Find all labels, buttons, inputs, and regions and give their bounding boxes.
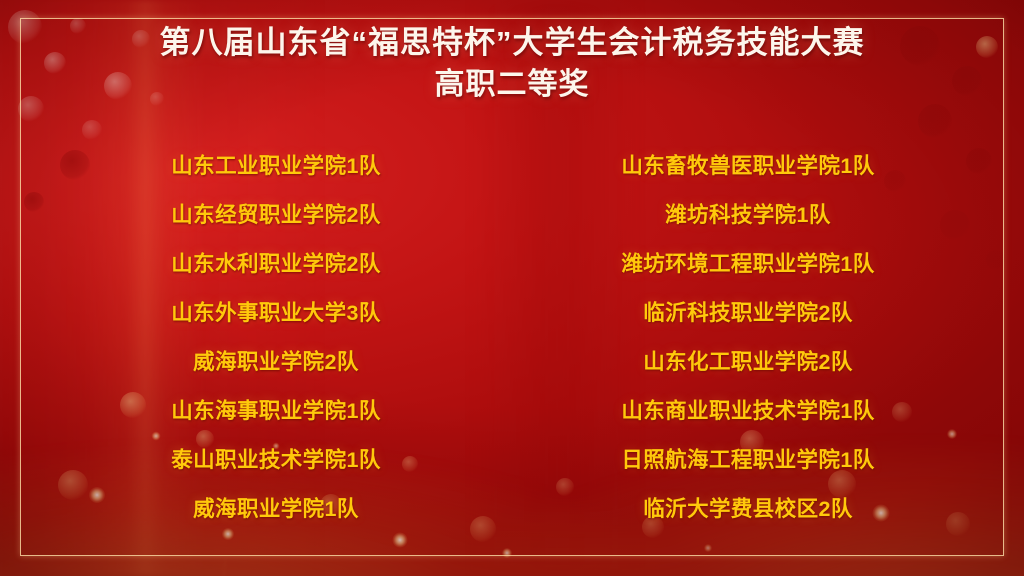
award-row: 山东商业职业技术学院1队 (512, 387, 984, 436)
award-row: 山东外事职业大学3队 (40, 289, 512, 338)
title-line-2: 高职二等奖 (0, 64, 1024, 106)
award-row: 临沂大学费县校区2队 (512, 485, 984, 534)
award-row: 威海职业学院1队 (40, 485, 512, 534)
award-slide: 第八届山东省“福思特杯”大学生会计税务技能大赛 高职二等奖 山东工业职业学院1队… (0, 0, 1024, 576)
award-row: 泰山职业技术学院1队 (40, 436, 512, 485)
award-row: 山东化工职业学院2队 (512, 338, 984, 387)
slide-content: 第八届山东省“福思特杯”大学生会计税务技能大赛 高职二等奖 山东工业职业学院1队… (0, 0, 1024, 576)
award-row: 山东畜牧兽医职业学院1队 (512, 142, 984, 191)
award-row: 山东水利职业学院2队 (40, 240, 512, 289)
award-row: 日照航海工程职业学院1队 (512, 436, 984, 485)
award-column-left: 山东工业职业学院1队 山东经贸职业学院2队 山东水利职业学院2队 山东外事职业大… (40, 142, 512, 534)
award-row: 山东工业职业学院1队 (40, 142, 512, 191)
award-row: 临沂科技职业学院2队 (512, 289, 984, 338)
title-line-1: 第八届山东省“福思特杯”大学生会计税务技能大赛 (0, 22, 1024, 64)
award-row: 潍坊科技学院1队 (512, 191, 984, 240)
award-column-right: 山东畜牧兽医职业学院1队 潍坊科技学院1队 潍坊环境工程职业学院1队 临沂科技职… (512, 142, 984, 534)
award-row: 山东经贸职业学院2队 (40, 191, 512, 240)
award-columns: 山东工业职业学院1队 山东经贸职业学院2队 山东水利职业学院2队 山东外事职业大… (40, 142, 984, 534)
award-row: 山东海事职业学院1队 (40, 387, 512, 436)
award-row: 威海职业学院2队 (40, 338, 512, 387)
award-row: 潍坊环境工程职业学院1队 (512, 240, 984, 289)
title-block: 第八届山东省“福思特杯”大学生会计税务技能大赛 高职二等奖 (0, 22, 1024, 106)
